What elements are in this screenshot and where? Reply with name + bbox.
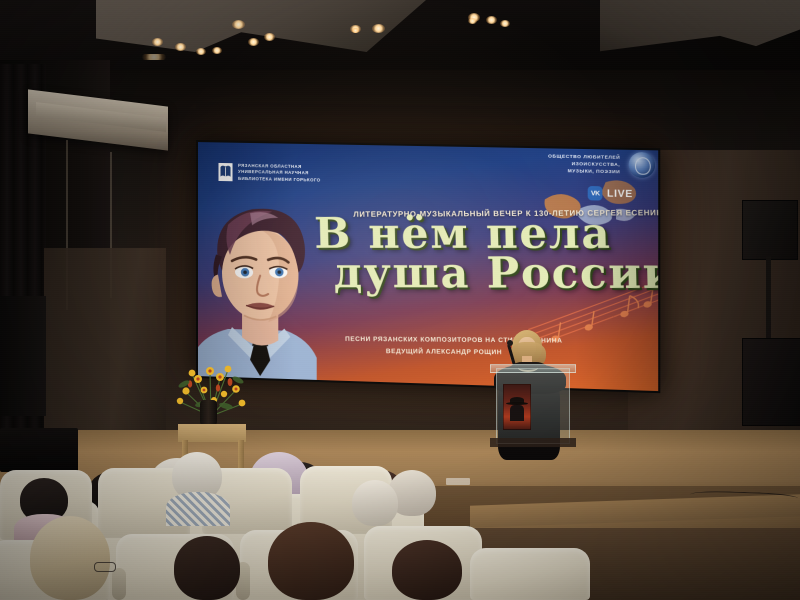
ceiling-light-icon xyxy=(264,33,275,41)
audience-head-mid-4 xyxy=(352,480,398,526)
pa-speaker-stand-icon xyxy=(766,256,771,342)
left-speaker-column-icon xyxy=(0,296,46,416)
pa-speaker-top xyxy=(742,200,798,260)
microphone-head-icon xyxy=(507,340,513,346)
ceiling-light-icon xyxy=(152,38,163,46)
screen-bezel xyxy=(196,140,660,393)
ceiling-light-icon xyxy=(468,18,477,24)
ceiling-light-icon xyxy=(175,43,186,51)
podium-top-surface xyxy=(490,364,576,373)
ceiling-light-icon xyxy=(196,48,206,55)
ceiling-light-icon xyxy=(212,47,222,54)
ceiling-light-strip-icon xyxy=(142,54,166,60)
led-presentation-screen: РЯЗАНСКАЯ ОБЛАСТНАЯ УНИВЕРСАЛЬНАЯ НАУЧНА… xyxy=(196,140,660,393)
audience-head-front-3 xyxy=(268,522,354,600)
podium-floor-mat xyxy=(490,438,576,447)
podium-event-poster xyxy=(503,384,531,430)
auditorium-scene: РЯЗАНСКАЯ ОБЛАСТНАЯ УНИВЕРСАЛЬНАЯ НАУЧНА… xyxy=(0,0,800,600)
left-monitor xyxy=(0,428,78,472)
ceiling-light-icon xyxy=(232,20,245,29)
audience-chair[interactable] xyxy=(470,548,590,600)
ceiling-light-icon xyxy=(248,38,259,46)
flower-table xyxy=(178,424,246,442)
audience-head-front-1 xyxy=(30,516,110,600)
eyeglasses-icon xyxy=(94,562,116,572)
ceiling-light-icon xyxy=(486,16,497,24)
audience-shoulders-mid-1 xyxy=(166,492,230,526)
chair-armrest-icon xyxy=(112,568,126,600)
pa-speaker-bottom xyxy=(742,338,800,426)
audience-head-front-4 xyxy=(392,540,462,600)
ceiling-light-icon xyxy=(500,20,510,27)
ceiling-light-icon xyxy=(372,24,385,33)
floor-socket-icon xyxy=(446,478,470,485)
ceiling-light-icon xyxy=(352,28,359,33)
poster-figure-icon xyxy=(510,405,524,421)
audience-head-front-2 xyxy=(174,536,240,600)
